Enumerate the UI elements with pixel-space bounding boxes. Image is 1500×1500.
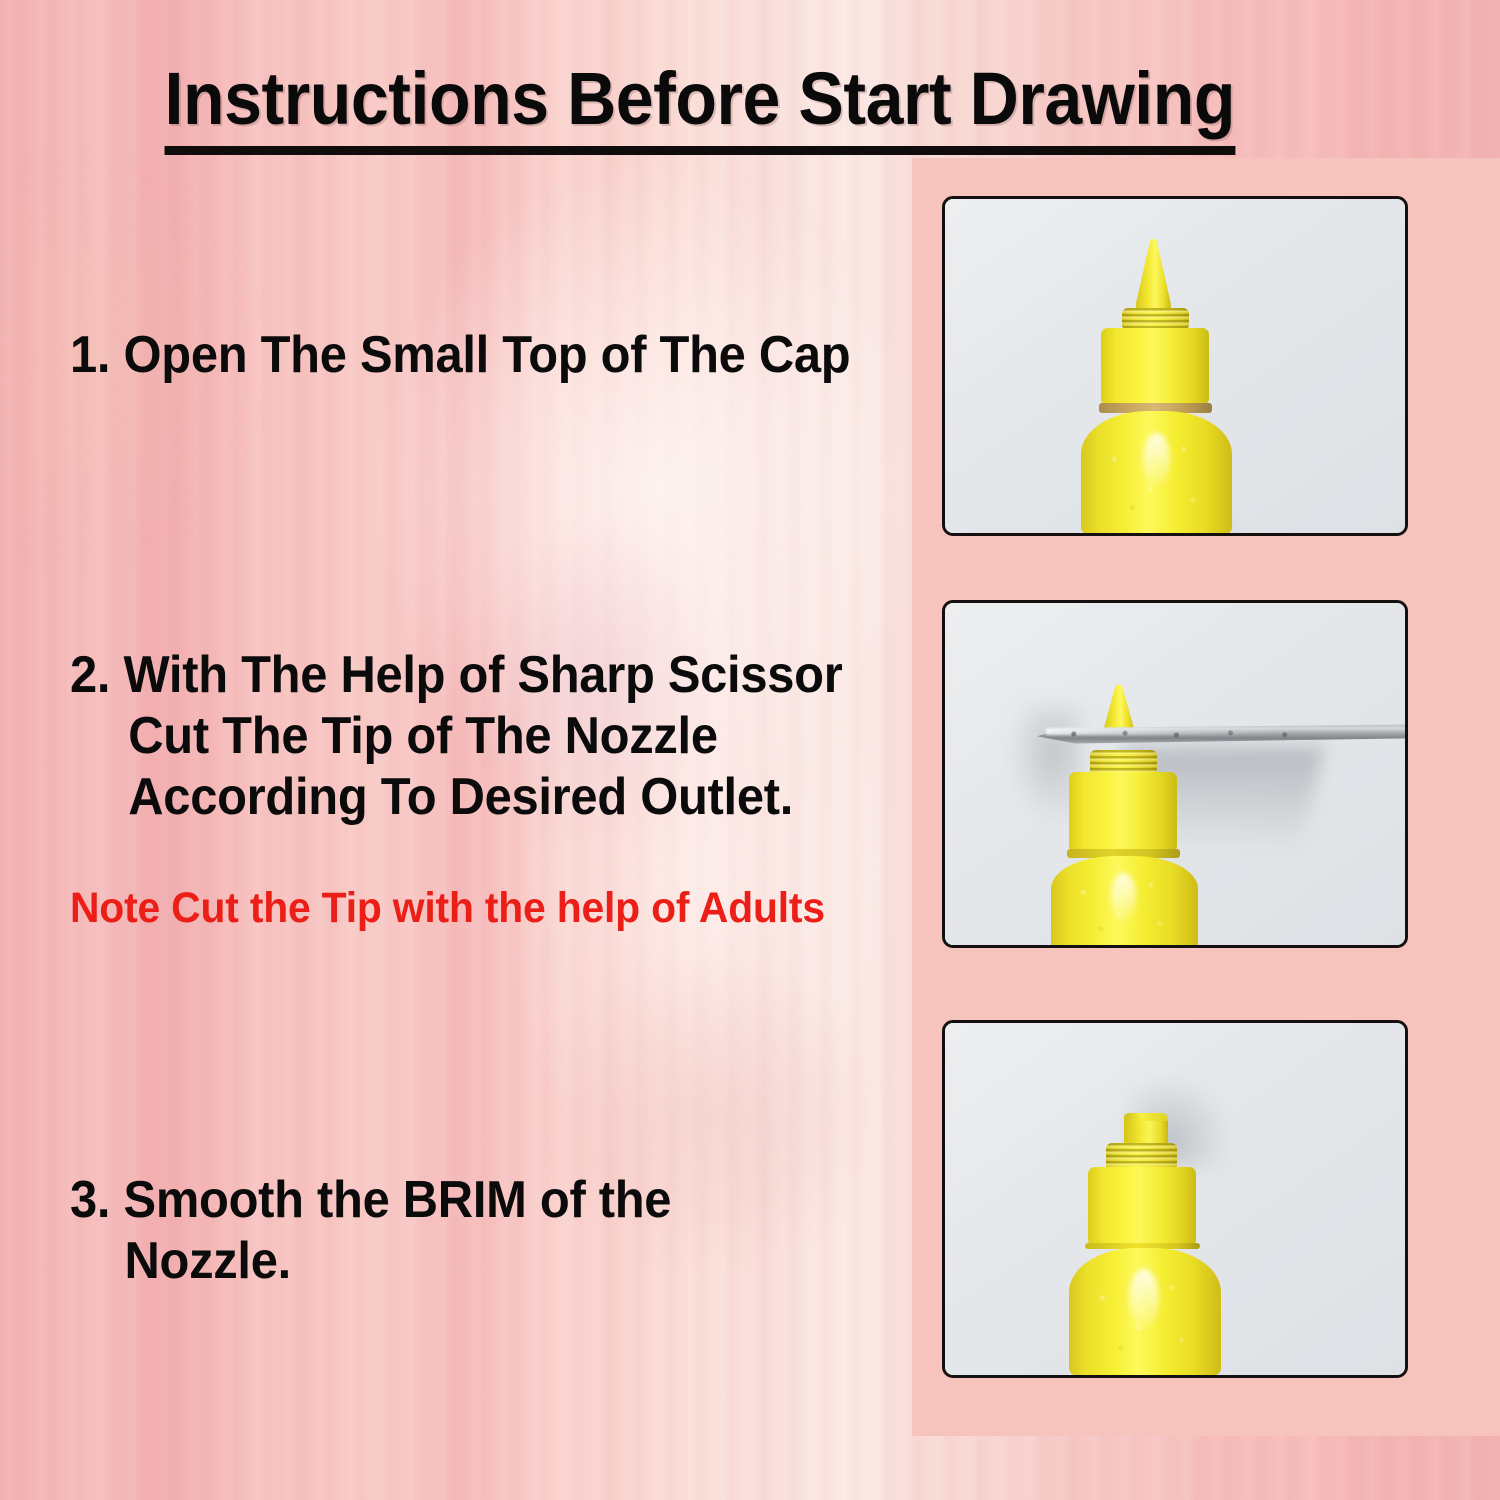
step-1-line-1: 1. Open The Small Top of The Cap <box>70 325 860 386</box>
photo-1-image <box>945 199 1405 533</box>
bottle-cap <box>1069 772 1177 851</box>
nozzle-threads <box>1122 308 1189 330</box>
photo-step-3-cut-nozzle <box>942 1020 1408 1378</box>
instructions-poster: Instructions Before Start Drawing 1. Ope… <box>0 0 1500 1500</box>
step-3-line-1: 3. Smooth the BRIM of the <box>70 1170 860 1231</box>
cut-nozzle-edge <box>1124 1113 1168 1121</box>
step-3-line-2: Nozzle. <box>70 1231 860 1292</box>
instruction-step-2: 2. With The Help of Sharp Scissor Cut Th… <box>70 645 860 827</box>
step-2-line-1: 2. With The Help of Sharp Scissor <box>70 645 860 706</box>
bottle-highlight <box>1129 1269 1159 1329</box>
instruction-list: 1. Open The Small Top of The Cap 2. With… <box>70 150 910 1440</box>
step-2-line-3: According To Desired Outlet. <box>70 767 860 828</box>
bottle-cap <box>1088 1167 1196 1244</box>
bottle-highlight <box>1111 873 1136 921</box>
photo-3-image <box>945 1023 1405 1375</box>
photo-step-1-uncut-nozzle <box>942 196 1408 536</box>
photo-column <box>912 158 1500 1436</box>
nozzle-threads <box>1090 750 1157 774</box>
photo-step-2-cutting-nozzle <box>942 600 1408 948</box>
photo-2-image <box>945 603 1405 945</box>
page-title: Instructions Before Start Drawing <box>165 62 1235 155</box>
instruction-step-1: 1. Open The Small Top of The Cap <box>70 325 860 386</box>
safety-note: Note Cut the Tip with the help of Adults <box>70 885 906 932</box>
nozzle-threads <box>1106 1143 1177 1169</box>
step-2-line-2: Cut The Tip of The Nozzle <box>70 706 860 767</box>
scissor-blade-texture <box>1051 730 1336 739</box>
bottle-cap <box>1101 328 1209 405</box>
title-container: Instructions Before Start Drawing <box>0 62 1400 155</box>
instruction-step-3: 3. Smooth the BRIM of the Nozzle. <box>70 1170 860 1292</box>
